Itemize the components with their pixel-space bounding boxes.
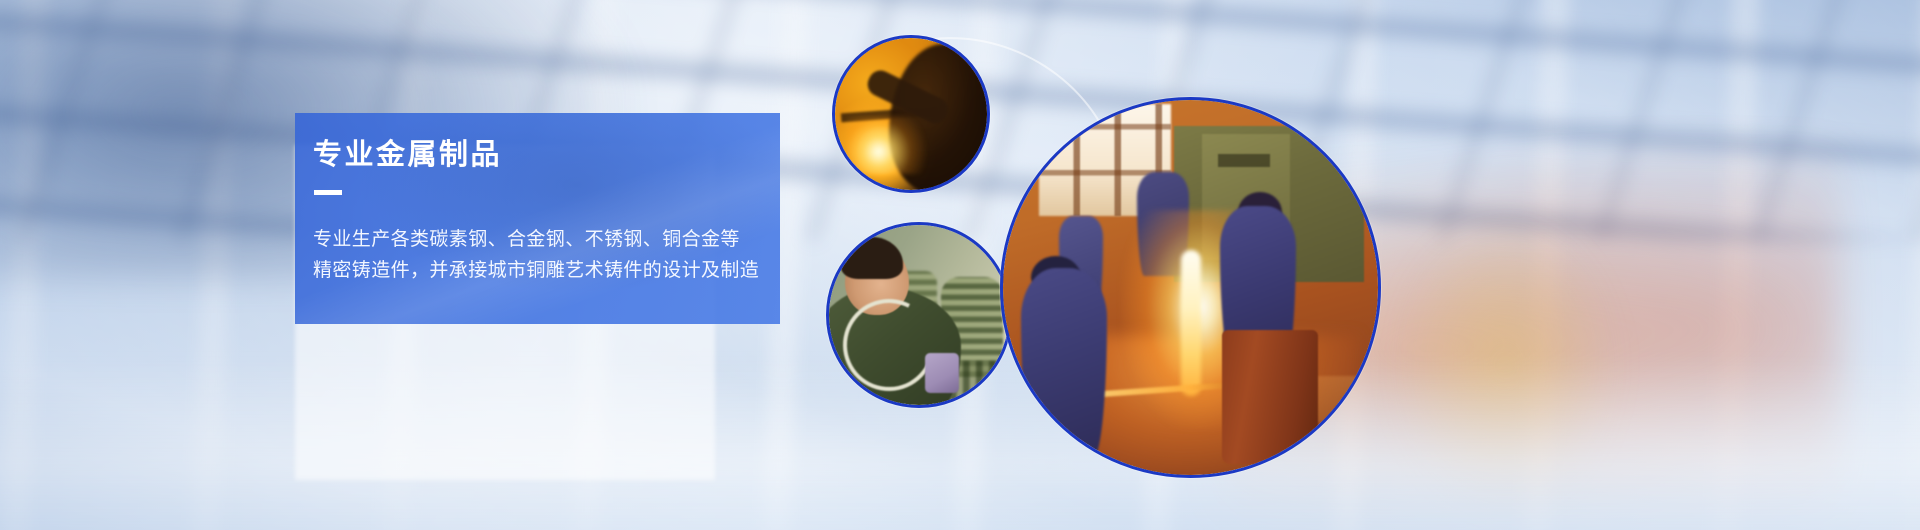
casting-worker-hair [841, 237, 903, 279]
photo-welding-sparks-image [835, 38, 987, 190]
foundry-worker-left [1021, 268, 1107, 458]
photo-casting-tree-image [829, 225, 1009, 405]
photo-foundry-molten-pour [1000, 97, 1381, 478]
title-divider-dash [314, 190, 342, 195]
promo-text-card: 专业金属制品 专业生产各类碳素钢、合金钢、不锈钢、铜合金等 精密铸造件，并承接城… [295, 113, 780, 324]
photo-foundry-image [1003, 100, 1378, 475]
hero-banner: 专业金属制品 专业生产各类碳素钢、合金钢、不锈钢、铜合金等 精密铸造件，并承接城… [0, 0, 1920, 530]
banner-title: 专业金属制品 [313, 140, 780, 172]
photo-investment-casting-tree [826, 222, 1012, 408]
foundry-control-panel [1218, 154, 1270, 167]
photo-collage [800, 0, 1920, 530]
description-line-1: 专业生产各类碳素钢、合金钢、不锈钢、铜合金等 [313, 224, 780, 255]
description-line-2: 精密铸造件，并承接城市铜雕艺术铸件的设计及制造 [313, 255, 780, 286]
weld-spark-burst [847, 116, 939, 174]
foundry-barrel [1222, 330, 1318, 464]
casting-part-in-hand [925, 353, 959, 393]
banner-description: 专业生产各类碳素钢、合金钢、不锈钢、铜合金等 精密铸造件，并承接城市铜雕艺术铸件… [313, 224, 780, 286]
foundry-molten-stream [1181, 250, 1201, 396]
photo-welding-sparks [832, 35, 990, 193]
